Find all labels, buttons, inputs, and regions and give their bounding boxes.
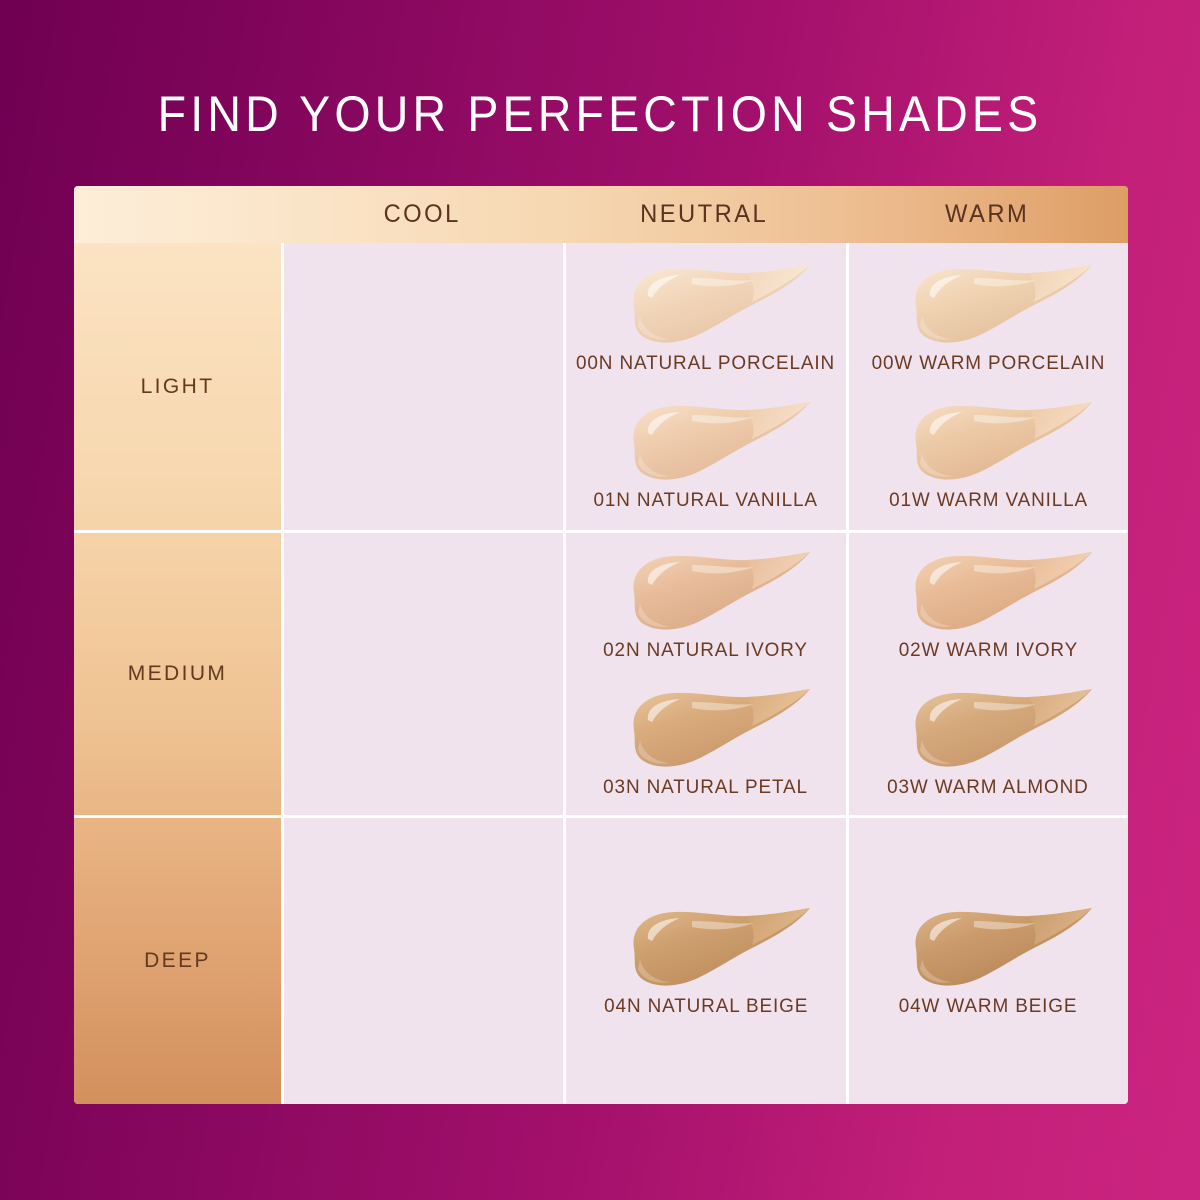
shade-swatch: [596, 905, 816, 993]
cell-deep-neutral[interactable]: 04N NATURAL BEIGE: [566, 818, 848, 1104]
shade-swatch: [878, 686, 1098, 774]
header-cell-warm: WARM: [853, 186, 1121, 243]
depth-label-light: LIGHT: [74, 243, 281, 533]
shade-item[interactable]: 02N NATURAL IVORY: [570, 549, 841, 662]
shade-item[interactable]: 01N NATURAL VANILLA: [570, 399, 841, 512]
shade-name-label: 01N NATURAL VANILLA: [594, 489, 818, 512]
shade-name-label: 00W WARM PORCELAIN: [872, 352, 1106, 375]
shade-item[interactable]: 04N NATURAL BEIGE: [570, 905, 841, 1018]
shade-name-label: 02W WARM IVORY: [899, 639, 1078, 662]
shade-grid: 00N NATURAL PORCELAIN 01N NATURAL VANILL…: [281, 243, 1128, 1104]
table-row-deep: 04N NATURAL BEIGE 04W WARM BEIGE: [284, 818, 1128, 1104]
shade-item[interactable]: 00W WARM PORCELAIN: [853, 262, 1124, 375]
shade-item[interactable]: 00N NATURAL PORCELAIN: [570, 262, 841, 375]
depth-label-deep: DEEP: [74, 818, 281, 1104]
shade-swatch: [596, 399, 816, 487]
shade-name-label: 03W WARM ALMOND: [888, 776, 1090, 799]
table-row-light: 00N NATURAL PORCELAIN 01N NATURAL VANILL…: [284, 243, 1128, 533]
header-cell-neutral: NEUTRAL: [570, 186, 838, 243]
shade-swatch: [878, 549, 1098, 637]
cell-medium-neutral[interactable]: 02N NATURAL IVORY 03N NATURAL PETAL: [566, 533, 848, 815]
shade-swatch: [596, 262, 816, 350]
shade-matrix-table: COOL NEUTRAL WARM LIGHT MEDIUM DEEP: [74, 186, 1128, 1104]
shade-name-label: 04N NATURAL BEIGE: [604, 995, 808, 1018]
shade-finder-page: FIND YOUR PERFECTION SHADES COOL NEUTRAL…: [0, 0, 1200, 1200]
cell-medium-cool[interactable]: [284, 533, 566, 815]
shade-name-label: 03N NATURAL PETAL: [604, 776, 809, 799]
cell-deep-cool[interactable]: [284, 818, 566, 1104]
header-cell-corner: [79, 186, 276, 243]
shade-name-label: 00N NATURAL PORCELAIN: [576, 352, 835, 375]
table-body: LIGHT MEDIUM DEEP: [74, 243, 1128, 1104]
shade-swatch: [878, 262, 1098, 350]
page-title: FIND YOUR PERFECTION SHADES: [42, 86, 1158, 142]
shade-item[interactable]: 04W WARM BEIGE: [853, 905, 1124, 1018]
shade-name-label: 02N NATURAL IVORY: [604, 639, 809, 662]
shade-swatch: [596, 549, 816, 637]
depth-label-column: LIGHT MEDIUM DEEP: [74, 243, 281, 1104]
table-row-medium: 02N NATURAL IVORY 03N NATURAL PETAL: [284, 533, 1128, 818]
cell-light-cool[interactable]: [284, 243, 566, 530]
cell-light-warm[interactable]: 00W WARM PORCELAIN 01W WARM VANILLA: [849, 243, 1128, 530]
table-header-row: COOL NEUTRAL WARM: [74, 186, 1128, 243]
header-cell-cool: COOL: [288, 186, 556, 243]
cell-light-neutral[interactable]: 00N NATURAL PORCELAIN 01N NATURAL VANILL…: [566, 243, 848, 530]
shade-swatch: [596, 686, 816, 774]
cell-medium-warm[interactable]: 02W WARM IVORY 03W WARM ALMOND: [849, 533, 1128, 815]
shade-item[interactable]: 03W WARM ALMOND: [853, 686, 1124, 799]
shade-item[interactable]: 02W WARM IVORY: [853, 549, 1124, 662]
depth-label-medium: MEDIUM: [74, 533, 281, 818]
shade-swatch: [878, 399, 1098, 487]
shade-item[interactable]: 01W WARM VANILLA: [853, 399, 1124, 512]
cell-deep-warm[interactable]: 04W WARM BEIGE: [849, 818, 1128, 1104]
shade-name-label: 04W WARM BEIGE: [899, 995, 1078, 1018]
shade-item[interactable]: 03N NATURAL PETAL: [570, 686, 841, 799]
shade-swatch: [878, 905, 1098, 993]
shade-name-label: 01W WARM VANILLA: [889, 489, 1088, 512]
